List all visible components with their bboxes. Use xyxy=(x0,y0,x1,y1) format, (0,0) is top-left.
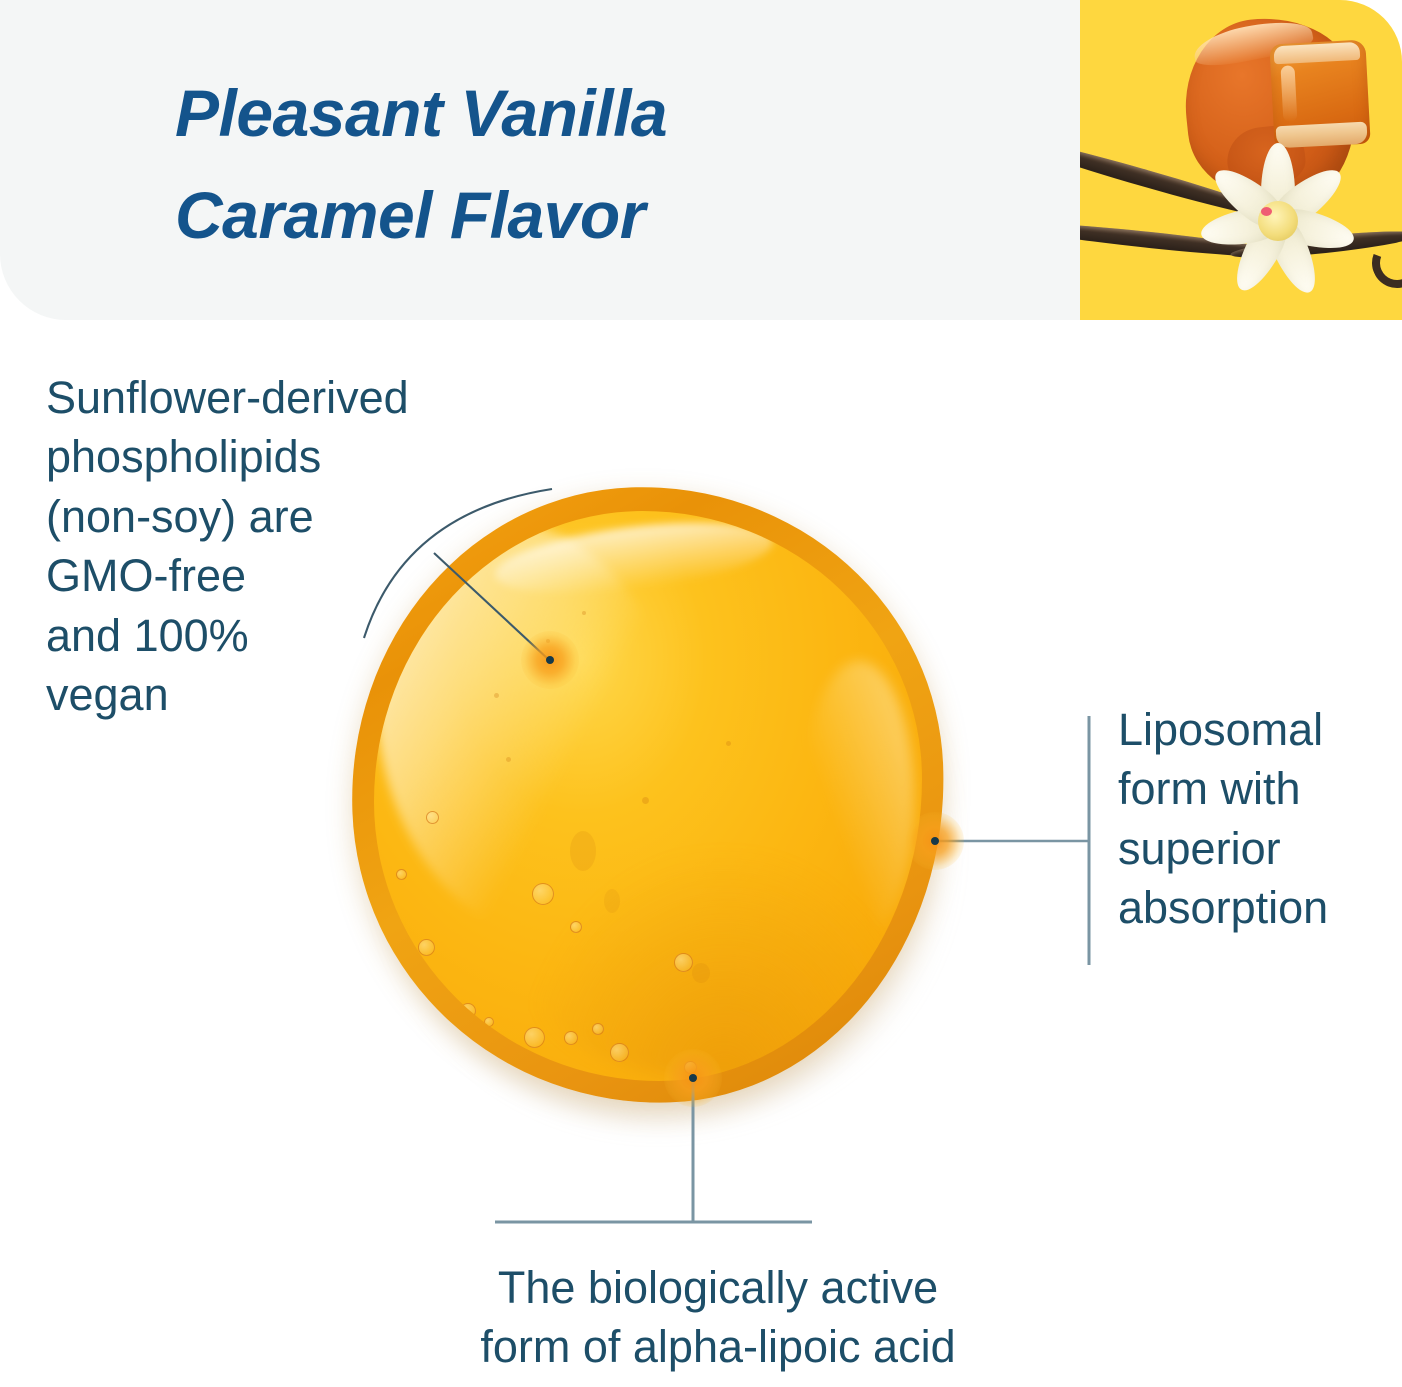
header-card: Pleasant Vanilla Caramel Flavor xyxy=(0,0,1120,320)
gel-bubble xyxy=(396,869,407,880)
gel-speck xyxy=(570,831,596,871)
gel-bubble xyxy=(418,939,435,956)
gel-speck xyxy=(506,757,511,762)
callout-text-phospholipids: Sunflower-derived phospholipids (non-soy… xyxy=(46,368,466,724)
vanilla-flower-icon xyxy=(1198,142,1358,300)
gel-bubble xyxy=(524,1027,545,1048)
gel-bubble xyxy=(434,987,445,998)
callout-marker-liposomal[interactable] xyxy=(906,812,964,870)
gel-bubble xyxy=(592,1023,604,1035)
caramel-cube-icon xyxy=(1269,40,1370,149)
callout-text-liposomal: Liposomal form with superior absorption xyxy=(1118,700,1393,938)
flavor-imagery-panel xyxy=(1080,0,1402,320)
callout-marker-phospholipids[interactable] xyxy=(521,631,579,689)
gel-speck xyxy=(494,693,499,698)
gel-bubble xyxy=(564,1031,578,1045)
gel-bottom-shading xyxy=(524,851,922,1081)
caramel-cube-shine xyxy=(1280,65,1297,122)
gel-speck xyxy=(726,741,731,746)
gel-speck xyxy=(604,889,620,913)
gel-bubble xyxy=(426,811,439,824)
callout-text-alpha-lipoic: The biologically active form of alpha-li… xyxy=(418,1258,1018,1377)
gel-speck xyxy=(642,797,649,804)
gel-bubble xyxy=(610,1043,629,1062)
gel-bubble xyxy=(484,1017,494,1027)
gel-bubble xyxy=(460,1003,476,1019)
gel-bubble xyxy=(532,883,554,905)
flower-center xyxy=(1258,201,1298,241)
page-title: Pleasant Vanilla Caramel Flavor xyxy=(175,62,1075,267)
gel-speck xyxy=(692,963,710,983)
gel-speck xyxy=(582,611,586,615)
callout-marker-alpha-lipoic[interactable] xyxy=(664,1049,722,1107)
gel-bubble xyxy=(404,957,414,967)
infographic-page: Pleasant Vanilla Caramel Flavor xyxy=(0,0,1402,1387)
gel-bubble xyxy=(674,953,693,972)
gel-bubble xyxy=(570,921,582,933)
